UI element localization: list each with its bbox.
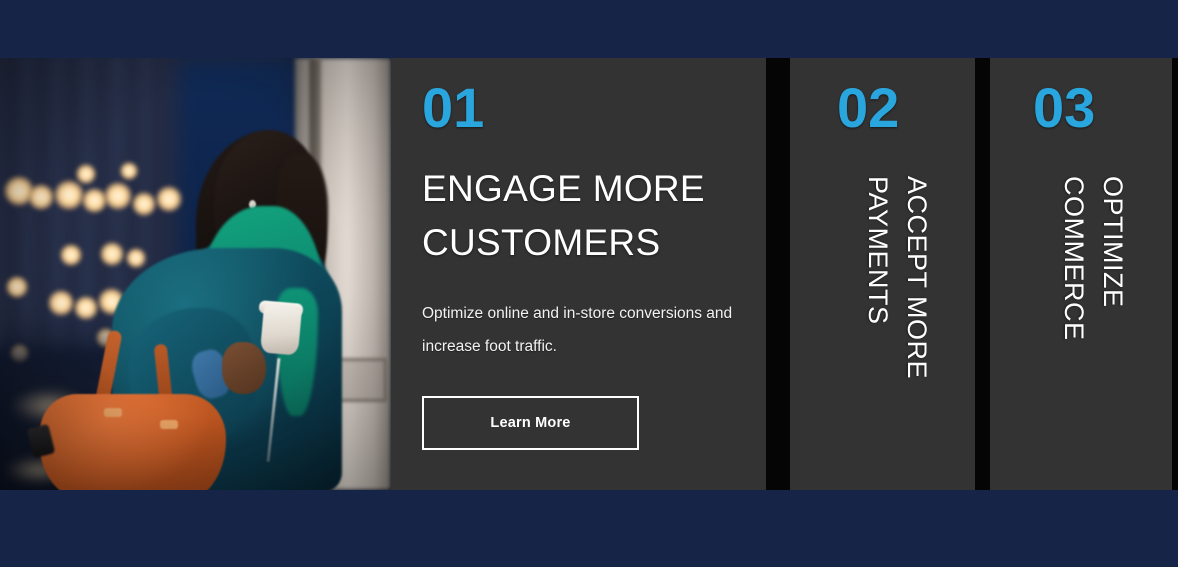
panel-body-01: Optimize online and in-store conversions… [422, 298, 752, 363]
woman-figure [0, 58, 391, 490]
hand [222, 342, 266, 394]
learn-more-button[interactable]: Learn More [422, 396, 639, 450]
panel-title-02: ACCEPT MORE PAYMENTS [826, 176, 936, 476]
panel-title-line-2: COMMERCE [1054, 176, 1093, 341]
hero-photo [0, 58, 391, 490]
panel-title-line-2: PAYMENTS [858, 176, 897, 325]
feature-panel-01[interactable]: 01 ENGAGE MORE CUSTOMERS Optimize online… [391, 58, 766, 490]
orange-handbag [40, 394, 226, 490]
panel-headline-01: ENGAGE MORE CUSTOMERS [422, 162, 742, 269]
panel-separator [975, 58, 990, 490]
panel-separator [1172, 58, 1178, 490]
bag-buckle [160, 420, 178, 429]
panel-title-line-1: OPTIMIZE [1093, 176, 1132, 308]
panel-title-03: OPTIMIZE COMMERCE [1022, 176, 1132, 476]
feature-panel-02[interactable]: 02 ACCEPT MORE PAYMENTS [790, 58, 975, 490]
page-root: 01 ENGAGE MORE CUSTOMERS Optimize online… [0, 0, 1178, 567]
panel-number-02: 02 [837, 80, 899, 136]
bag-buckle [104, 408, 122, 417]
panel-separator [766, 58, 790, 490]
panel-number-03: 03 [1033, 80, 1095, 136]
panel-title-line-1: ACCEPT MORE [897, 176, 936, 379]
panel-number-01: 01 [422, 80, 484, 136]
feature-panel-03[interactable]: 03 OPTIMIZE COMMERCE [990, 58, 1172, 490]
coffee-cup [260, 304, 302, 355]
feature-panel-band: 01 ENGAGE MORE CUSTOMERS Optimize online… [0, 58, 1178, 490]
photo-scene [0, 58, 391, 490]
